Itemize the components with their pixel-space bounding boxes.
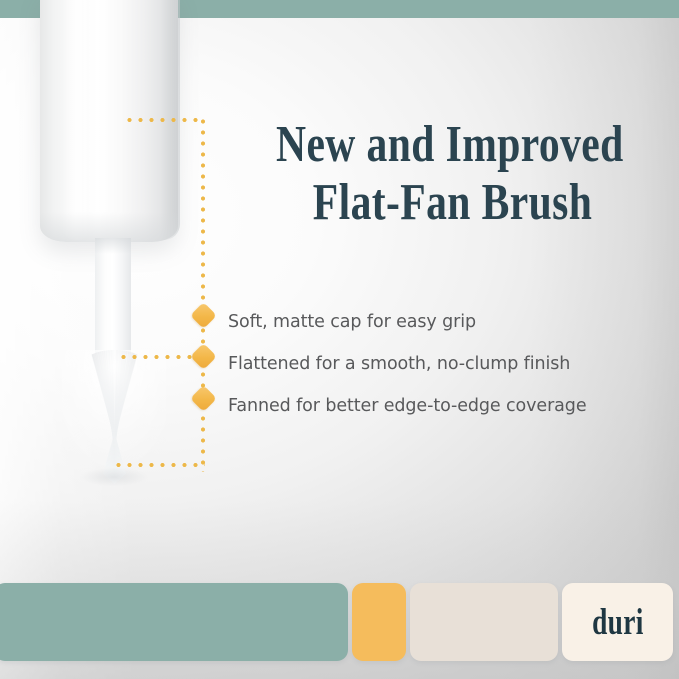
headline: New and Improved Flat-Fan Brush bbox=[276, 116, 588, 232]
dotted-line-to-bristles bbox=[113, 462, 205, 468]
brush-stem bbox=[95, 238, 131, 354]
feature-text: Soft, matte cap for easy grip bbox=[228, 311, 476, 333]
headline-line-2: Flat-Fan Brush bbox=[276, 174, 588, 232]
list-item: Flattened for a smooth, no-clump finish bbox=[228, 343, 658, 385]
brush-stem-shading bbox=[95, 238, 131, 254]
feature-text: Flattened for a smooth, no-clump finish bbox=[228, 353, 570, 375]
dotted-line-to-cap bbox=[124, 117, 204, 123]
bottom-color-bar: duri bbox=[0, 583, 679, 661]
feature-text: Fanned for better edge-to-edge coverage bbox=[228, 395, 586, 417]
brand-logo: duri bbox=[592, 604, 644, 641]
list-item: Soft, matte cap for easy grip bbox=[228, 301, 658, 343]
dotted-line-vertical bbox=[200, 116, 206, 472]
cap-highlight bbox=[62, 0, 92, 240]
headline-line-1: New and Improved bbox=[276, 116, 588, 174]
segment-cream: duri bbox=[562, 583, 673, 661]
segment-beige bbox=[410, 583, 558, 661]
list-item: Fanned for better edge-to-edge coverage bbox=[228, 385, 658, 427]
ad-canvas: New and Improved Flat-Fan Brush Soft, ma… bbox=[0, 0, 679, 679]
segment-orange bbox=[352, 583, 406, 661]
product-image bbox=[0, 0, 300, 520]
segment-green bbox=[0, 583, 348, 661]
feature-list: Soft, matte cap for easy grip Flattened … bbox=[228, 301, 658, 427]
